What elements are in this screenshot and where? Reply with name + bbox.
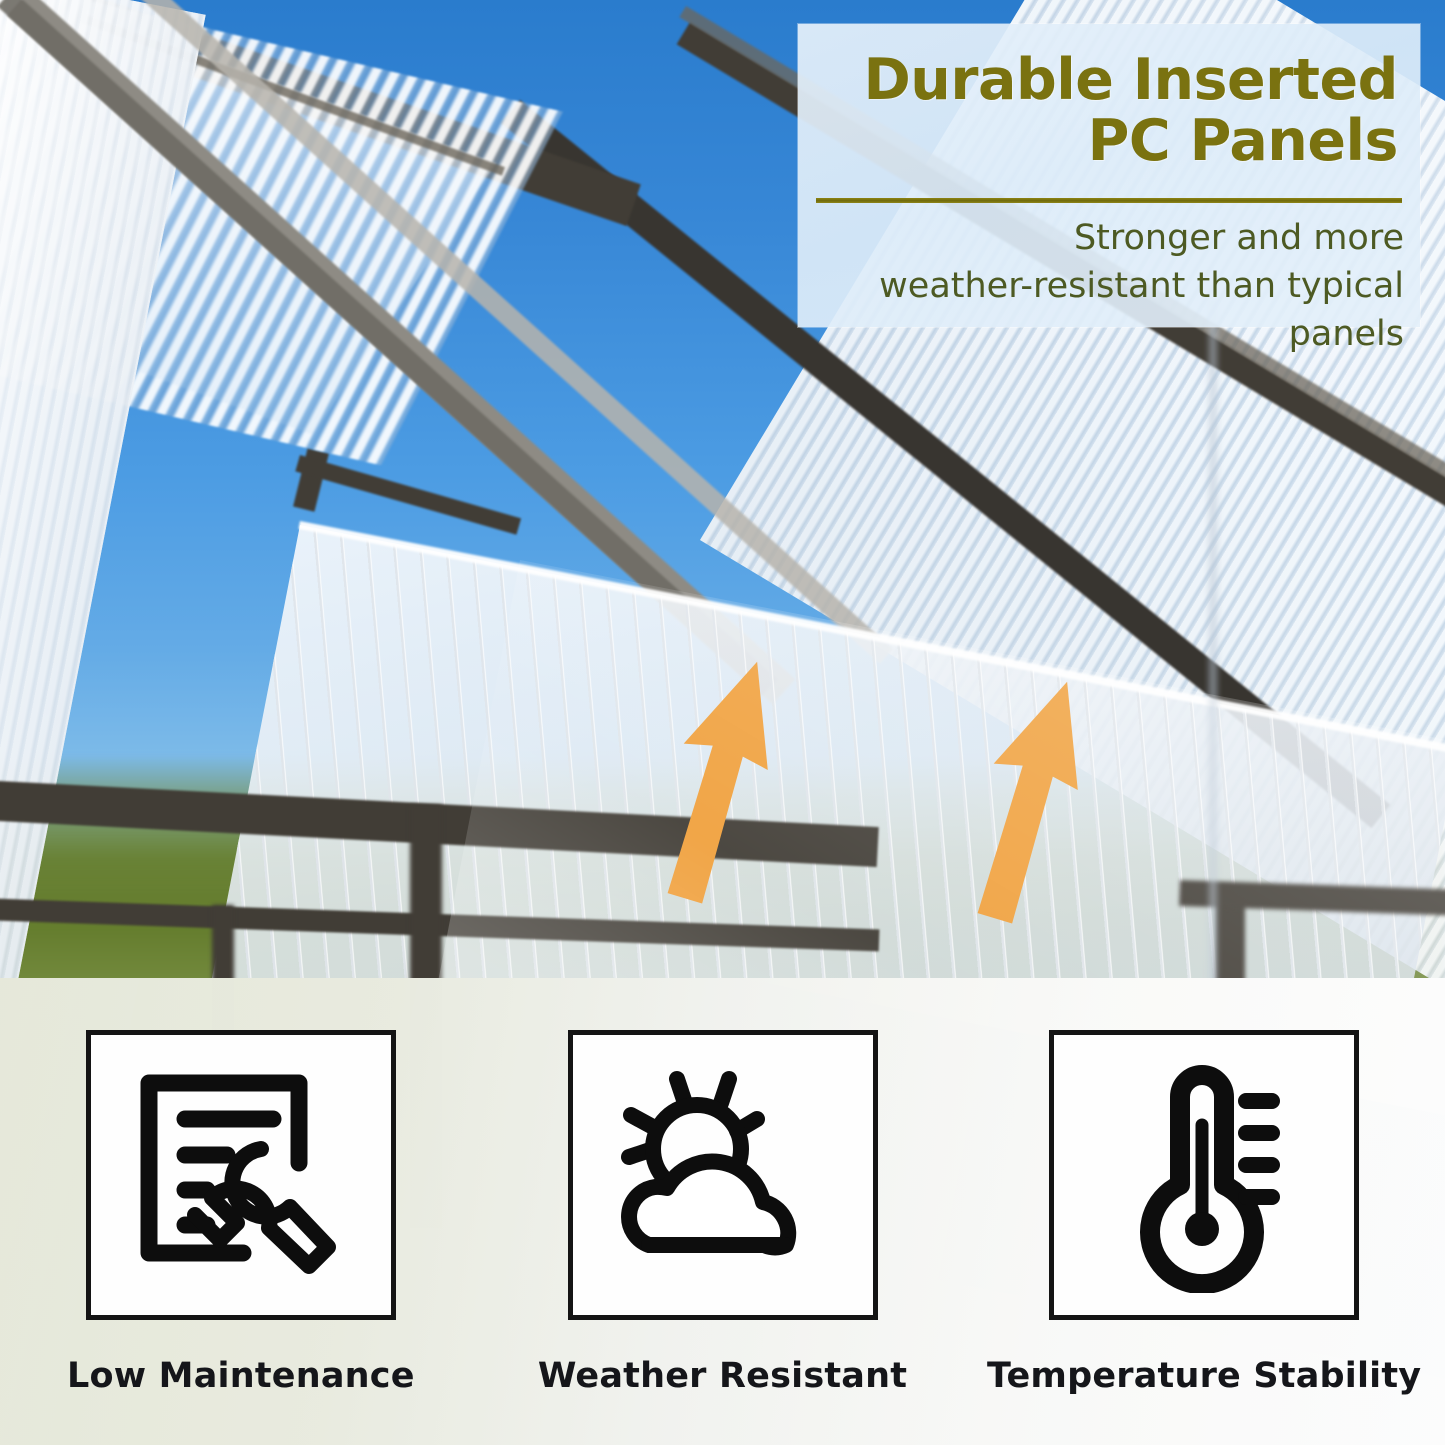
feature-label: Weather Resistant — [538, 1356, 907, 1396]
icon-frame — [1049, 1030, 1359, 1320]
feature-weather-resistant[interactable]: Weather Resistant — [482, 978, 964, 1445]
title-line-2: PC Panels — [820, 111, 1398, 172]
arrow-right-panel — [958, 668, 1088, 938]
feature-temperature-stability[interactable]: Temperature Stability — [963, 978, 1445, 1445]
icon-frame — [568, 1030, 878, 1320]
panel-seam-right — [1205, 300, 1221, 985]
feature-row: Low Maintenance — [0, 978, 1445, 1445]
frame-post-right — [410, 805, 442, 985]
sun-behind-cloud-icon — [605, 1057, 841, 1293]
icon-frame — [86, 1030, 396, 1320]
title-line-1: Durable Inserted — [863, 47, 1398, 113]
feature-label: Low Maintenance — [67, 1356, 415, 1396]
feature-low-maintenance[interactable]: Low Maintenance — [0, 978, 482, 1445]
product-feature-graphic: Durable InsertedPC Panels Stronger and m… — [0, 0, 1445, 1445]
headline-card: Durable InsertedPC Panels Stronger and m… — [798, 24, 1420, 327]
subtitle-line-1: Stronger and more — [812, 214, 1404, 262]
title-divider — [816, 198, 1402, 203]
frame-post-left — [212, 905, 234, 985]
feature-label: Temperature Stability — [987, 1356, 1421, 1396]
thermometer-icon — [1086, 1057, 1322, 1293]
arrow-left-panel — [648, 648, 778, 918]
subtitle: Stronger and more weather-resistant than… — [812, 214, 1404, 358]
document-wrench-icon — [123, 1057, 359, 1293]
page-title: Durable InsertedPC Panels — [798, 24, 1420, 172]
frame-crossbar-mid — [295, 455, 521, 535]
subtitle-line-2: weather-resistant than typical panels — [812, 262, 1404, 358]
feature-strip: Low Maintenance — [0, 978, 1445, 1445]
